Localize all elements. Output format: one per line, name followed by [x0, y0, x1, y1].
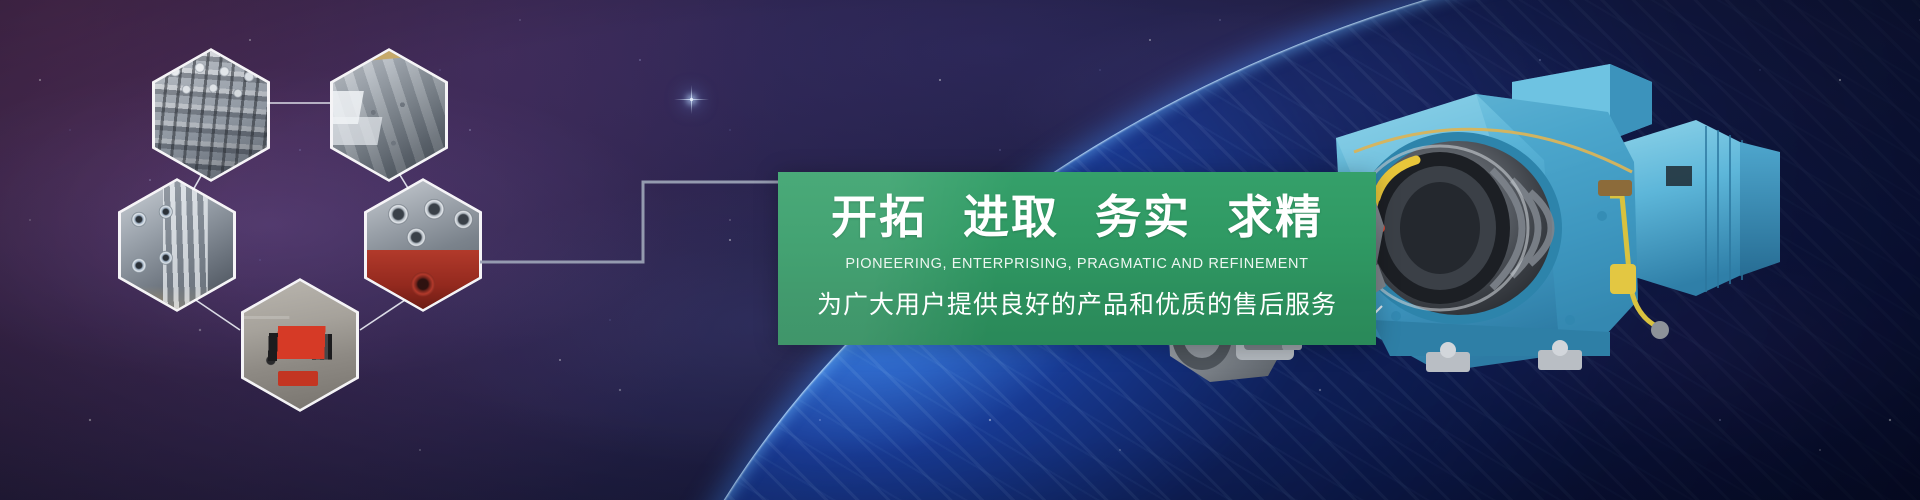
connector-line-left — [480, 160, 800, 310]
hero-banner: 开拓 进取 务实 求精 PIONEERING, ENTERPRISING, PR… — [0, 0, 1920, 500]
slogan-chinese-subtitle: 为广大用户提供良好的产品和优质的售后服务 — [778, 285, 1376, 321]
motor-unit — [1612, 120, 1780, 296]
slogan-headline: 开拓 进取 务实 求精 — [778, 194, 1376, 240]
slogan-english-subtitle: PIONEERING, ENTERPRISING, PRAGMATIC AND … — [778, 256, 1376, 272]
slogan-panel: 开拓 进取 务实 求精 PIONEERING, ENTERPRISING, PR… — [778, 172, 1376, 345]
